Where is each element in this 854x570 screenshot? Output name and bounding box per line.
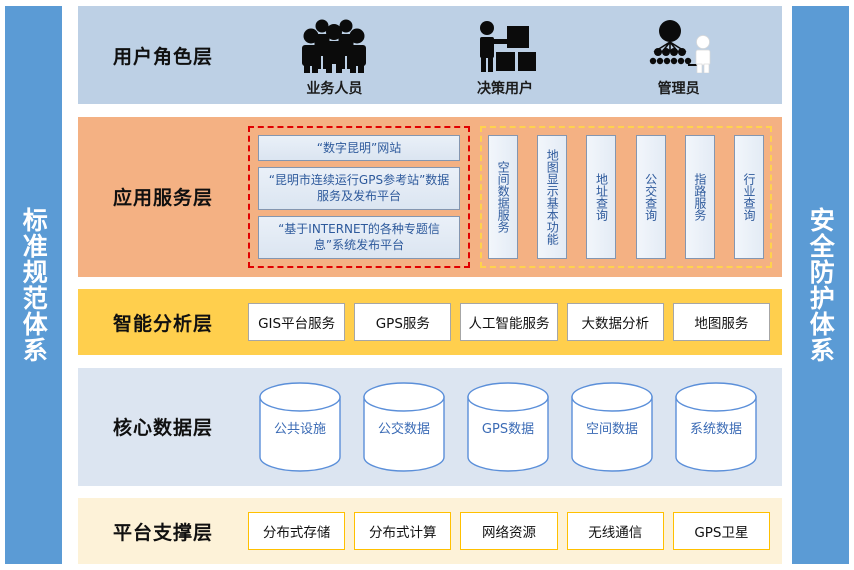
database-bus-data[interactable]: 公交数据 xyxy=(358,381,450,473)
database-public-facilities-label: 公共设施 xyxy=(274,418,326,437)
database-spatial-data[interactable]: 空间数据 xyxy=(566,381,658,473)
role-decision-user-label: 决策用户 xyxy=(477,78,533,98)
user-role-layer-title: 用户角色层 xyxy=(78,42,248,69)
role-administrator-label: 管理员 xyxy=(658,78,700,98)
role-business-staff[interactable]: 业务人员 xyxy=(301,12,367,98)
intelligent-analysis-layer-body: GIS平台服务 GPS服务 人工智能服务 大数据分析 地图服务 xyxy=(248,289,782,355)
person-with-charts-icon xyxy=(474,15,536,73)
role-administrator[interactable]: 管理员 xyxy=(643,12,715,98)
platform-wireless-communication[interactable]: 无线通信 xyxy=(567,512,664,550)
service-address-query[interactable]: 地址查询 xyxy=(586,135,616,259)
platform-distributed-storage[interactable]: 分布式存储 xyxy=(248,512,345,550)
application-service-layer-title: 应用服务层 xyxy=(78,183,248,210)
platform-distributed-computing[interactable]: 分布式计算 xyxy=(354,512,451,550)
intelligent-analysis-layer-title: 智能分析层 xyxy=(78,309,248,336)
core-data-layer: 核心数据层 公共设施 公交数据 xyxy=(78,368,782,486)
app-box-internet-thematic-info[interactable]: “基于INTERNET的各种专题信息”系统发布平台 xyxy=(258,216,460,259)
core-data-layer-title: 核心数据层 xyxy=(78,413,248,440)
database-system-data[interactable]: 系统数据 xyxy=(670,381,762,473)
service-group-functions: 空间数据服务 地图显示基本功能 地址查询 公交查询 指路服务 行业查询 xyxy=(480,126,772,268)
database-gps-data[interactable]: GPS数据 xyxy=(462,381,554,473)
database-spatial-data-label: 空间数据 xyxy=(586,418,638,437)
service-bus-query[interactable]: 公交查询 xyxy=(636,135,666,259)
platform-support-layer-body: 分布式存储 分布式计算 网络资源 无线通信 GPS卫星 xyxy=(248,498,782,564)
service-spatial-data[interactable]: 空间数据服务 xyxy=(488,135,518,259)
user-role-layer: 用户角色层 xyxy=(78,6,782,104)
analysis-map-service[interactable]: 地图服务 xyxy=(673,303,770,341)
database-public-facilities[interactable]: 公共设施 xyxy=(254,381,346,473)
service-map-display-basic[interactable]: 地图显示基本功能 xyxy=(537,135,567,259)
sidebar-standards-label: 标准规范体系 xyxy=(16,207,52,363)
platform-support-layer-title: 平台支撑层 xyxy=(78,518,248,545)
platform-network-resources[interactable]: 网络资源 xyxy=(460,512,557,550)
intelligent-analysis-layer: 智能分析层 GIS平台服务 GPS服务 人工智能服务 大数据分析 地图服务 xyxy=(78,289,782,355)
database-bus-data-label: 公交数据 xyxy=(378,418,430,437)
application-service-layer: 应用服务层 “数字昆明”网站 “昆明市连续运行GPS参考站”数据服务及发布平台 … xyxy=(78,117,782,277)
sidebar-security-system: 安全防护体系 xyxy=(792,6,849,564)
org-hierarchy-person-icon xyxy=(643,15,715,73)
user-role-layer-body: 业务人员 xyxy=(248,6,782,104)
platform-gps-satellite[interactable]: GPS卫星 xyxy=(673,512,770,550)
application-service-layer-body: “数字昆明”网站 “昆明市连续运行GPS参考站”数据服务及发布平台 “基于INT… xyxy=(248,117,782,277)
sidebar-security-label: 安全防护体系 xyxy=(803,207,839,363)
platform-group-highlighted: “数字昆明”网站 “昆明市连续运行GPS参考站”数据服务及发布平台 “基于INT… xyxy=(248,126,470,268)
core-data-layer-body: 公共设施 公交数据 GPS数据 xyxy=(248,368,782,486)
role-business-staff-label: 业务人员 xyxy=(306,78,362,98)
analysis-ai-service[interactable]: 人工智能服务 xyxy=(460,303,557,341)
analysis-gps-service[interactable]: GPS服务 xyxy=(354,303,451,341)
role-decision-user[interactable]: 决策用户 xyxy=(474,12,536,98)
app-box-digital-kunming[interactable]: “数字昆明”网站 xyxy=(258,135,460,162)
app-box-gps-reference-station[interactable]: “昆明市连续运行GPS参考站”数据服务及发布平台 xyxy=(258,167,460,210)
architecture-stack: 用户角色层 xyxy=(78,6,782,564)
database-system-data-label: 系统数据 xyxy=(690,418,742,437)
platform-support-layer: 平台支撑层 分布式存储 分布式计算 网络资源 无线通信 GPS卫星 xyxy=(78,498,782,564)
database-gps-data-label: GPS数据 xyxy=(482,418,534,437)
sidebar-standards-system: 标准规范体系 xyxy=(5,6,62,564)
people-group-icon xyxy=(301,15,367,73)
service-industry-query[interactable]: 行业查询 xyxy=(734,135,764,259)
analysis-big-data[interactable]: 大数据分析 xyxy=(567,303,664,341)
analysis-gis-platform-service[interactable]: GIS平台服务 xyxy=(248,303,345,341)
service-route-guidance[interactable]: 指路服务 xyxy=(685,135,715,259)
